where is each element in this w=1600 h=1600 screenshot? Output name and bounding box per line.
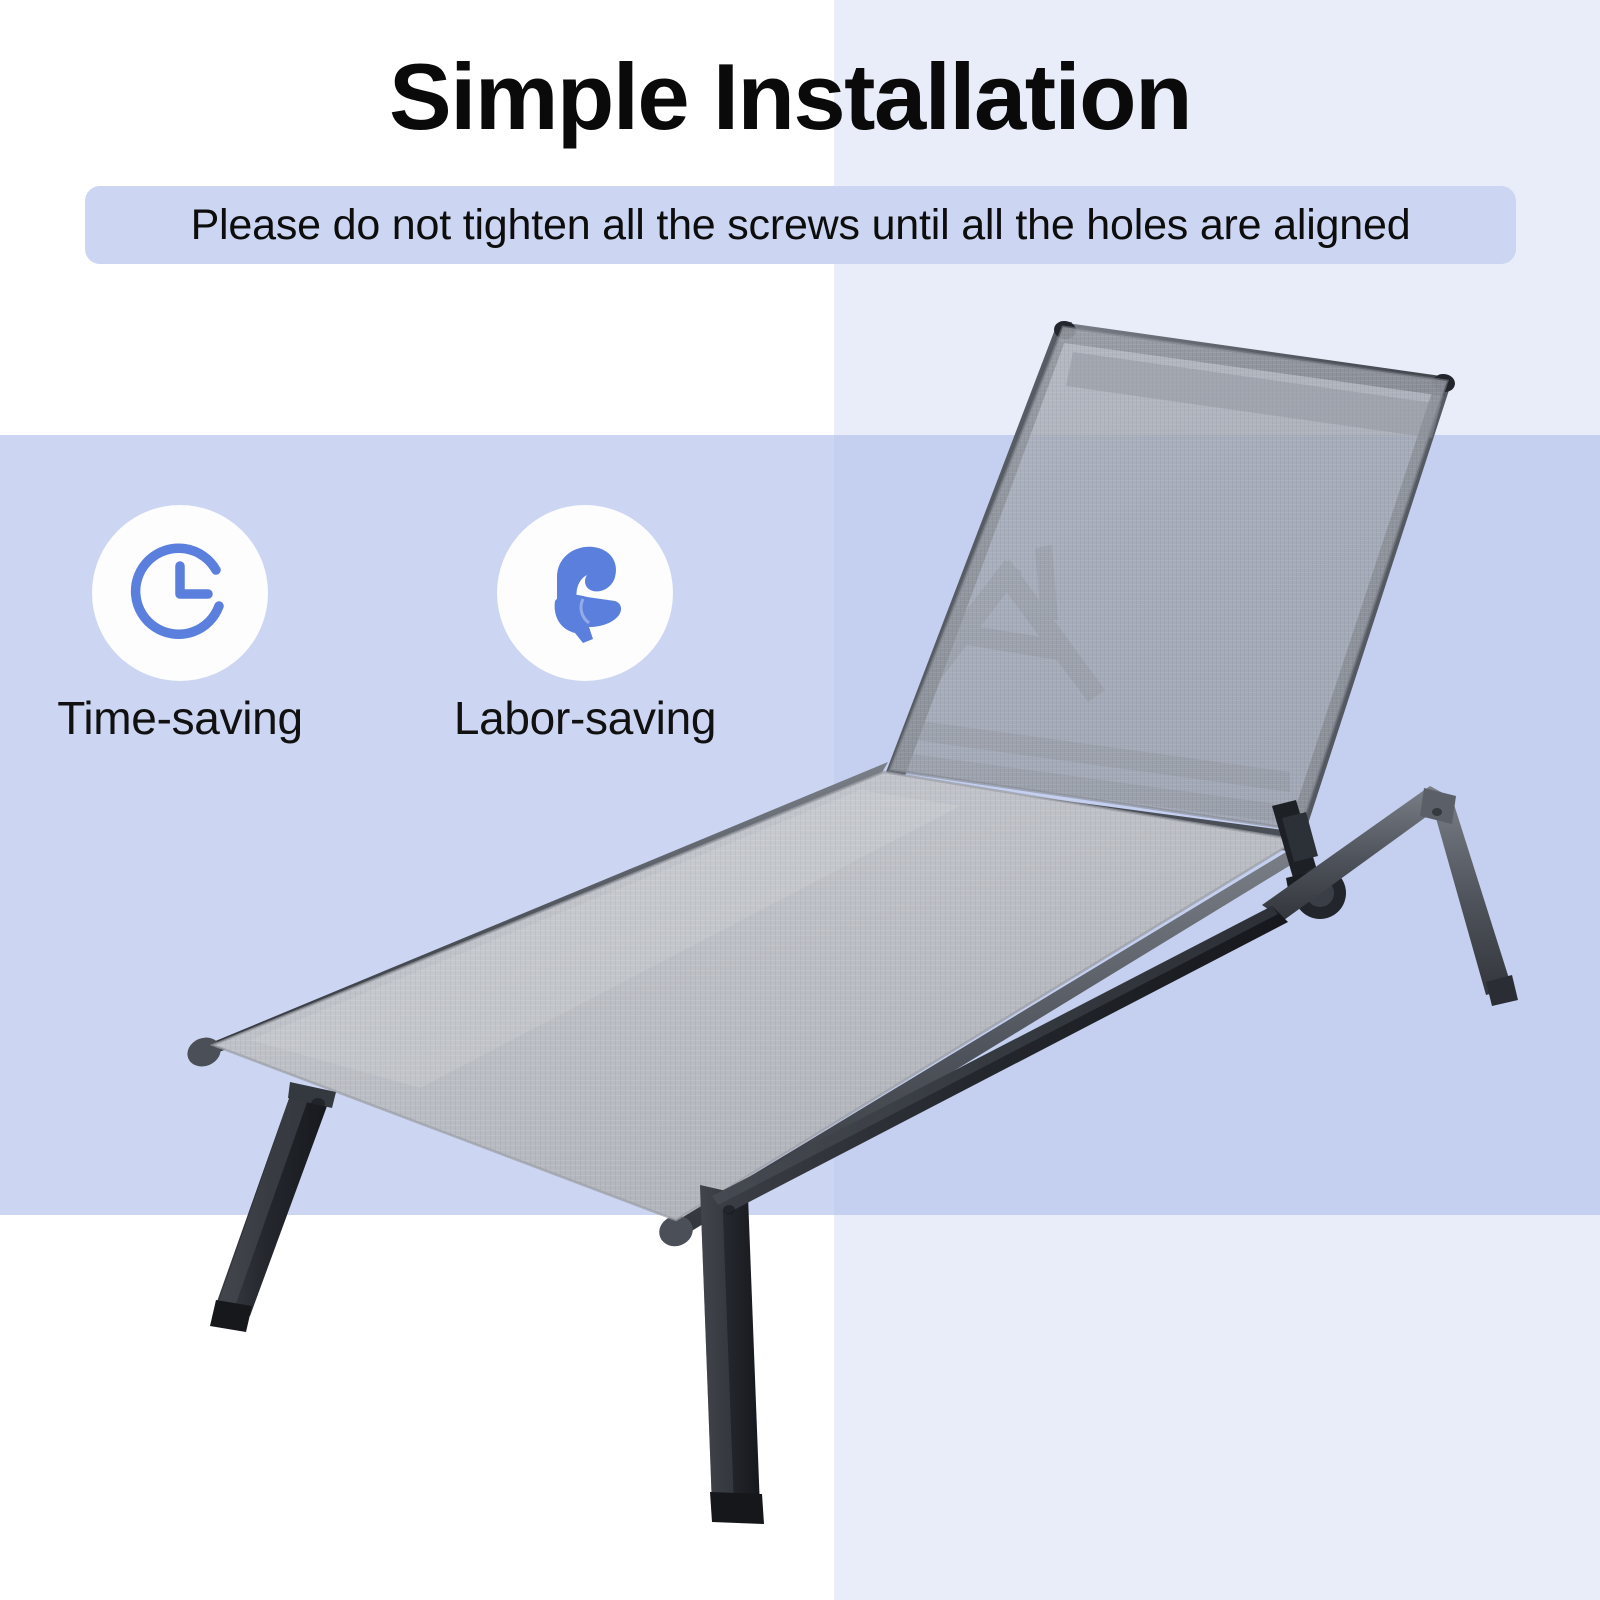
backrest-mesh-panel <box>890 327 1447 830</box>
rear-leg <box>1262 786 1518 1006</box>
background-middle-band-right <box>834 435 1600 1215</box>
backrest-frame <box>886 320 1456 833</box>
seat-frame <box>183 762 1312 1251</box>
feature-time-saving: Time-saving <box>30 505 330 745</box>
instruction-banner: Please do not tighten all the screws unt… <box>85 186 1516 264</box>
feature-label: Labor-saving <box>435 691 735 745</box>
instruction-text: Please do not tighten all the screws unt… <box>191 201 1411 250</box>
muscle-icon <box>523 531 647 655</box>
rear-frame-behind-mesh <box>898 545 1292 824</box>
page-title: Simple Installation <box>0 48 1580 147</box>
leg-cross-brace <box>712 906 1288 1214</box>
feature-labor-saving: Labor-saving <box>435 505 735 745</box>
middle-leg <box>700 1185 764 1524</box>
feature-label: Time-saving <box>30 691 330 745</box>
recliner-mechanism <box>1272 800 1346 919</box>
seat-mesh-panel <box>213 772 1297 1220</box>
front-leg <box>210 1082 336 1332</box>
feature-icon-disc <box>92 505 268 681</box>
infographic-page: Simple Installation Please do not tighte… <box>0 0 1600 1600</box>
feature-icon-disc <box>497 505 673 681</box>
clock-icon <box>115 528 245 658</box>
hardware-fasteners <box>311 808 1442 1215</box>
